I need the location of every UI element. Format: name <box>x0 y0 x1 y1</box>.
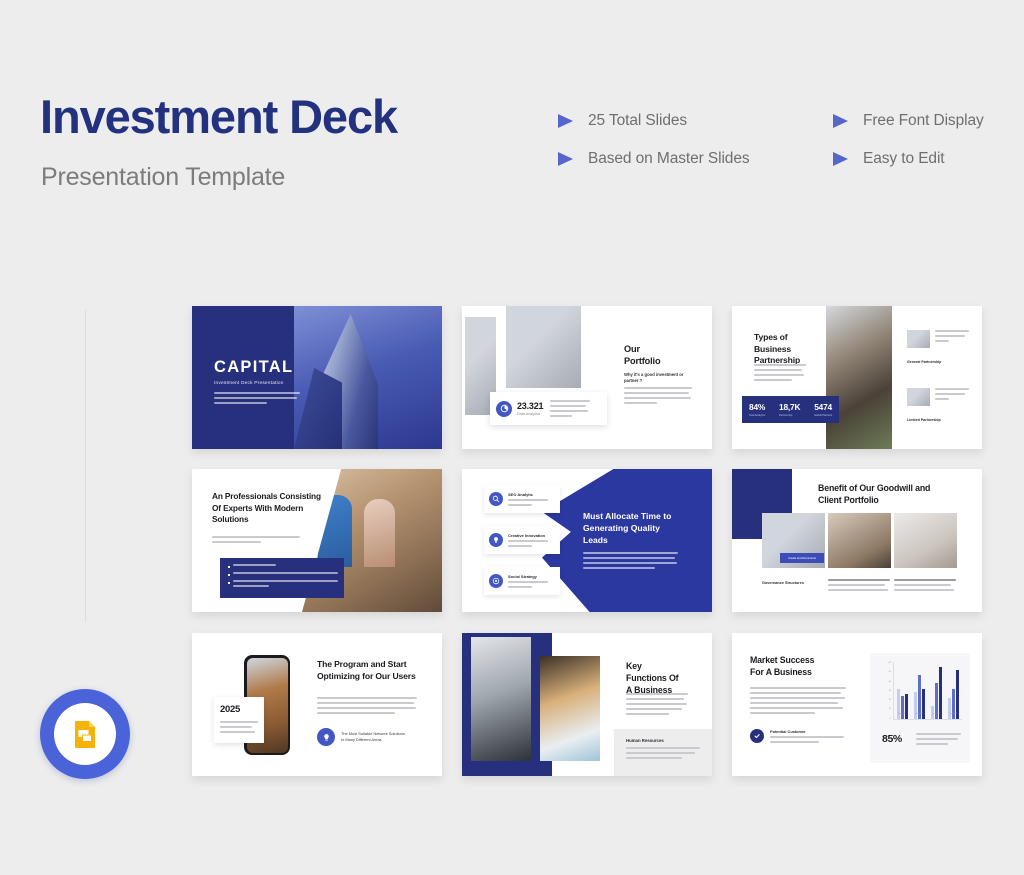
feature-item-3: Easy to Edit <box>831 150 996 168</box>
feature-label: 25 Total Slides <box>588 112 687 130</box>
percent-value: 85% <box>882 733 902 745</box>
slide-subtitle: Investment Deck Presentation <box>214 381 284 386</box>
slide-title: The Program and Start Optimizing for Our… <box>317 659 417 683</box>
slide-title: Types of Business Partnership <box>754 332 800 367</box>
partnership-item <box>907 330 969 348</box>
card-title: Creative Innovation <box>508 533 555 538</box>
gallery-photo <box>894 513 957 568</box>
partnership-caption: General Partnership <box>907 360 941 364</box>
y-tick: 20 <box>889 699 891 701</box>
meeting-photo <box>506 306 581 388</box>
partnership-photo <box>907 330 930 348</box>
google-slides-icon <box>68 717 102 751</box>
slide-title: An Professionals Consisting Of Experts W… <box>212 491 322 526</box>
chart-bar <box>905 694 908 719</box>
bullet-item <box>228 580 338 587</box>
feature-item-2: Based on Master Slides <box>556 150 831 168</box>
button-label: Create and Documents <box>788 557 816 560</box>
analytics-photo <box>540 656 600 761</box>
search-analytics-icon <box>489 492 503 506</box>
target-icon <box>489 574 503 588</box>
feature-label: Based on Master Slides <box>588 150 750 168</box>
sub-card-body <box>626 747 700 759</box>
chart-y-axis: 60 50 40 30 20 10 0 <box>884 662 891 720</box>
slide-thumbnail-capital[interactable]: CAPITAL Investment Deck Presentation <box>192 306 442 449</box>
stat-label: Total Analytics <box>749 414 765 417</box>
highlight-pill: The Most Suitable Network Solutions In M… <box>317 728 405 746</box>
slide-thumbnail-market-success[interactable]: Market Success For A Business Potential … <box>732 633 982 776</box>
stat-value: 23.321 <box>517 401 543 411</box>
chart-x-axis: Year 01Year 02Year 03Year 04 <box>893 713 962 715</box>
app-badge <box>40 689 130 779</box>
person-figure <box>364 499 395 567</box>
bar-group <box>897 662 909 719</box>
slide-title: CAPITAL <box>214 358 293 377</box>
slide-title: Market Success For A Business <box>750 655 855 679</box>
partnership-caption: Limited Partnership <box>907 418 941 422</box>
x-tick: Year 03 <box>932 713 939 715</box>
card-title: SEO Analytic <box>508 492 555 497</box>
slide-question: Why it's a good investment or partner ? <box>624 372 692 384</box>
slide-thumbnail-key-functions[interactable]: Key Functions Of A Business Human Resour… <box>462 633 712 776</box>
feature-card-innovation[interactable]: Creative Innovation <box>484 526 560 554</box>
y-tick: 0 <box>890 718 891 720</box>
feature-item-1: Free Font Display <box>831 112 996 130</box>
slide-thumbnail-business-partnership[interactable]: Types of Business Partnership 84% Total … <box>732 306 982 449</box>
sub-card-title: Human Resources <box>626 738 700 743</box>
play-triangle-icon <box>831 151 850 167</box>
bar-group <box>931 662 943 719</box>
chart-container: 60 50 40 30 20 10 0 Year 01Year 02Year 0… <box>870 653 970 763</box>
badge-inner-circle <box>54 703 116 765</box>
slide-body-text <box>750 687 846 714</box>
slide-body-text <box>214 392 300 404</box>
check-title: Potential Customer <box>770 729 844 734</box>
lightbulb-icon <box>317 728 335 746</box>
slide-thumbnail-program[interactable]: 2025 The Program and Start Optimizing fo… <box>192 633 442 776</box>
feature-label: Free Font Display <box>863 112 984 130</box>
chart-bar <box>914 692 917 719</box>
skyscraper-photo <box>294 306 442 449</box>
bullet-dot <box>228 574 230 576</box>
play-triangle-icon <box>556 113 575 129</box>
slide-thumbnail-allocate-time[interactable]: Must Allocate Time to Generating Quality… <box>462 469 712 612</box>
slide-body-text <box>754 364 806 381</box>
stat-item: 18,7K Partnership <box>779 402 800 417</box>
lightbulb-icon <box>489 533 503 547</box>
slide-thumbnail-goodwill[interactable]: Benefit of Our Goodwill and Client Portf… <box>732 469 982 612</box>
stat-item: 84% Total Analytics <box>749 402 765 417</box>
feature-card-seo[interactable]: SEO Analytic <box>484 485 560 513</box>
feature-list: 25 Total Slides Free Font Display Based … <box>556 112 996 168</box>
play-triangle-icon <box>831 113 850 129</box>
y-tick: 30 <box>889 690 891 692</box>
year-value: 2025 <box>220 704 258 715</box>
y-tick: 60 <box>889 662 891 664</box>
slide-thumbnail-professionals[interactable]: An Professionals Consisting Of Experts W… <box>192 469 442 612</box>
x-tick: Year 02 <box>915 713 922 715</box>
bullet-box <box>220 558 344 598</box>
workplace-photo <box>471 637 531 761</box>
feature-card-social[interactable]: Social Strategy <box>484 567 560 595</box>
person-figure <box>318 495 352 567</box>
laptop-photo <box>826 306 892 449</box>
partnership-item <box>907 388 969 406</box>
gallery-body <box>828 579 890 591</box>
slide-body-text <box>212 536 300 543</box>
chart-bar <box>956 670 959 719</box>
chart-bar <box>948 698 951 719</box>
potential-customer-item: Potential Customer <box>750 729 844 743</box>
bar-group <box>948 662 960 719</box>
gallery-caption: Governance Structures <box>762 581 824 585</box>
stat-label: Global Partners <box>814 414 832 417</box>
feature-label: Easy to Edit <box>863 150 945 168</box>
stat-card: 23.321 Data Analytics <box>490 392 607 425</box>
x-tick: Year 01 <box>898 713 905 715</box>
stat-label: Partnership <box>779 414 800 417</box>
percent-body <box>916 733 961 745</box>
slide-title: Our Portfolio <box>624 344 660 368</box>
stat-bar: 84% Total Analytics 18,7K Partnership 54… <box>742 396 839 423</box>
stat-value: 84% <box>749 402 765 412</box>
slide-title: Key Functions Of A Business <box>626 661 678 697</box>
slide-title: Must Allocate Time to Generating Quality… <box>583 511 678 547</box>
partnership-photo <box>907 388 930 406</box>
y-tick: 50 <box>889 671 891 673</box>
stat-label: Data Analytics <box>517 412 543 416</box>
chart-circle-icon <box>496 401 512 417</box>
slide-body-text <box>317 697 417 714</box>
y-tick: 10 <box>889 708 891 710</box>
card-title: Social Strategy <box>508 574 555 579</box>
check-circle-icon <box>750 729 764 743</box>
page-title: Investment Deck <box>40 92 397 143</box>
stat-item: 5474 Global Partners <box>814 402 832 417</box>
chart-bar <box>901 696 904 719</box>
bar-group <box>914 662 926 719</box>
play-triangle-icon <box>556 151 575 167</box>
chart-plot-area <box>893 662 962 720</box>
bullet-dot <box>228 582 230 584</box>
x-tick: Year 04 <box>950 713 957 715</box>
gallery-photo <box>828 513 891 568</box>
y-tick: 40 <box>889 681 891 683</box>
bullet-dot <box>228 566 230 568</box>
stat-value: 5474 <box>814 402 832 412</box>
bullet-item <box>228 572 338 576</box>
bar-chart: 60 50 40 30 20 10 0 <box>884 662 962 720</box>
slide-thumbnail-our-portfolio[interactable]: 23.321 Data Analytics Our Portfolio Why … <box>462 306 712 449</box>
chart-bar <box>939 667 942 719</box>
create-documents-button[interactable]: Create and Documents <box>780 553 824 563</box>
bullet-item <box>228 564 293 568</box>
gallery-body <box>894 579 956 591</box>
year-card: 2025 <box>214 697 264 743</box>
page-root: Investment Deck Presentation Template 25… <box>0 0 1024 875</box>
feature-item-0: 25 Total Slides <box>556 112 831 130</box>
slide-title: Benefit of Our Goodwill and Client Portf… <box>818 483 938 507</box>
stat-value: 18,7K <box>779 402 800 412</box>
slide-body-text <box>624 387 692 404</box>
vertical-divider <box>85 310 86 622</box>
slide-body-text <box>583 552 678 569</box>
slide-body-text <box>626 693 688 715</box>
sub-card: Human Resources <box>614 729 712 776</box>
page-subtitle: Presentation Template <box>41 163 285 192</box>
pill-text: The Most Suitable Network Solutions In M… <box>341 731 405 744</box>
